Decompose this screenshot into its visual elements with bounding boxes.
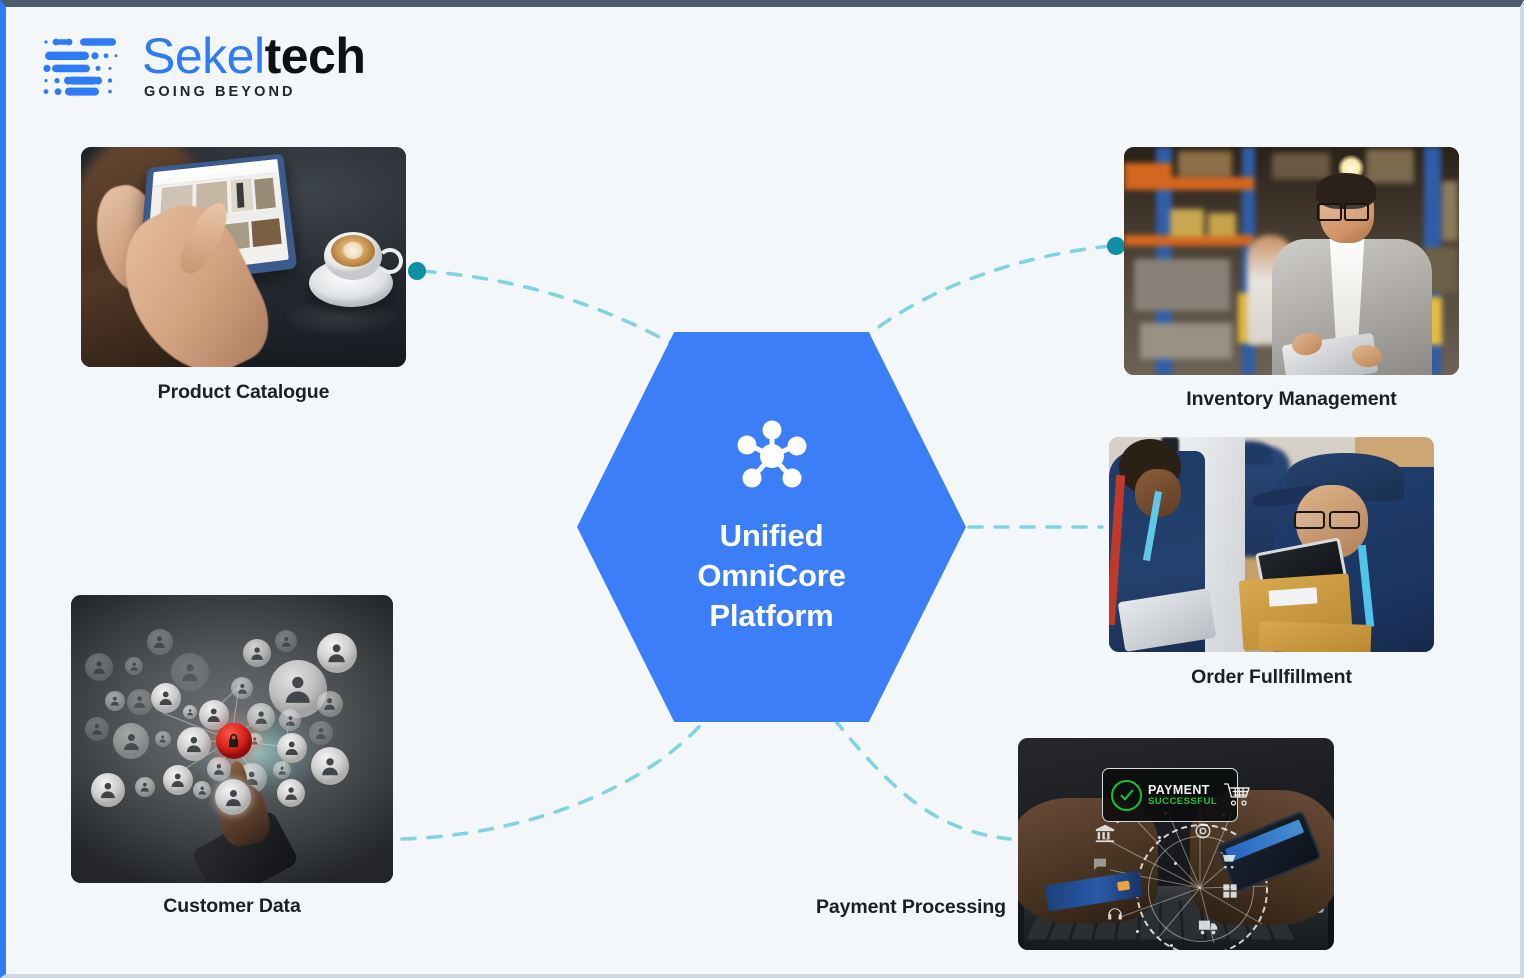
logo-tagline: GOING BEYOND: [144, 84, 365, 100]
shopping-cart-icon: [1223, 782, 1251, 808]
payment-banner-line2: SUCCESSFUL: [1148, 797, 1217, 808]
avatar-node: [155, 731, 171, 747]
node-product-catalogue[interactable]: Product Catalogue: [81, 147, 406, 404]
inventory-management-image: [1124, 147, 1459, 375]
node-inventory-management[interactable]: Inventory Management: [1124, 147, 1459, 411]
avatar-node: [147, 629, 173, 655]
avatar-node: [113, 723, 149, 759]
avatar-node: [309, 721, 333, 745]
hexagon-content: Unified OmniCore Platform: [577, 332, 966, 722]
avatar-node: [85, 717, 109, 741]
product-catalogue-image: [81, 147, 406, 367]
avatar-node: [85, 653, 113, 681]
headphones-icon: [1106, 906, 1124, 924]
avatar-node: [277, 733, 307, 763]
avatar-node: [317, 633, 357, 673]
avatar-node-highlighted: [215, 779, 251, 815]
logo-wordmark: Sekeltech: [142, 31, 365, 82]
avatar-node: [105, 691, 125, 711]
avatar-node: [177, 727, 211, 761]
check-circle-icon: [1111, 780, 1142, 811]
avatar-node: [311, 747, 349, 785]
center-title: Unified OmniCore Platform: [697, 516, 845, 636]
target-icon: [1194, 822, 1212, 840]
avatar-node: [171, 653, 209, 691]
avatar-node: [127, 689, 153, 715]
payment-banner-line1: PAYMENT: [1148, 783, 1217, 797]
grid-icon: [1222, 883, 1238, 899]
avatar-node: [135, 777, 155, 797]
node-payment-processing[interactable]: PAYMENT SUCCESSFUL: [1018, 738, 1334, 950]
payment-processing-image: PAYMENT SUCCESSFUL: [1018, 738, 1334, 950]
avatar-node: [151, 683, 181, 713]
connector-dot-product-catalogue: [408, 262, 426, 280]
security-lock-icon: [216, 723, 252, 759]
avatar-node: [183, 705, 197, 719]
avatar-node: [275, 630, 297, 652]
customer-data-image: [71, 595, 393, 883]
brand-logo[interactable]: Sekeltech GOING BEYOND: [40, 31, 365, 100]
node-label-customer-data: Customer Data: [71, 895, 393, 918]
avatar-node: [231, 677, 253, 699]
avatar-node: [317, 691, 343, 717]
avatar-node: [279, 709, 301, 731]
network-hub-icon: [732, 418, 812, 492]
avatar-node: [91, 773, 125, 807]
chat-icon: [1092, 856, 1108, 872]
payment-success-banner: PAYMENT SUCCESSFUL: [1102, 768, 1238, 822]
node-customer-data[interactable]: Customer Data: [71, 595, 393, 918]
avatar-node: [125, 657, 143, 675]
logo-word-primary: Sekel: [142, 28, 265, 84]
infographic-canvas: Sekeltech GOING BEYOND: [0, 0, 1524, 978]
connector-inventory-management: [866, 246, 1110, 337]
bank-icon: [1094, 822, 1116, 844]
node-label-order-fulfillment: Order Fullfillment: [1109, 666, 1434, 689]
node-label-payment-processing: Payment Processing: [806, 896, 1006, 919]
connector-payment-processing: [834, 719, 1010, 839]
truck-icon: [1196, 916, 1222, 938]
logo-word-secondary: tech: [265, 28, 366, 84]
logo-text: Sekeltech GOING BEYOND: [142, 31, 365, 100]
connector-customer-data: [402, 719, 706, 839]
mini-cart-icon: [1218, 850, 1238, 870]
node-order-fulfillment[interactable]: Order Fullfillment: [1109, 437, 1434, 689]
center-hexagon[interactable]: Unified OmniCore Platform: [577, 332, 966, 722]
connector-dot-inventory-management: [1107, 237, 1125, 255]
infographic-stage: Sekeltech GOING BEYOND: [6, 7, 1520, 974]
sekel-circuit-icon: [40, 35, 122, 97]
node-label-inventory-management: Inventory Management: [1124, 388, 1459, 411]
avatar-node: [243, 639, 271, 667]
avatar-node: [247, 703, 275, 731]
order-fulfillment-image: [1109, 437, 1434, 652]
node-label-product-catalogue: Product Catalogue: [81, 381, 406, 404]
